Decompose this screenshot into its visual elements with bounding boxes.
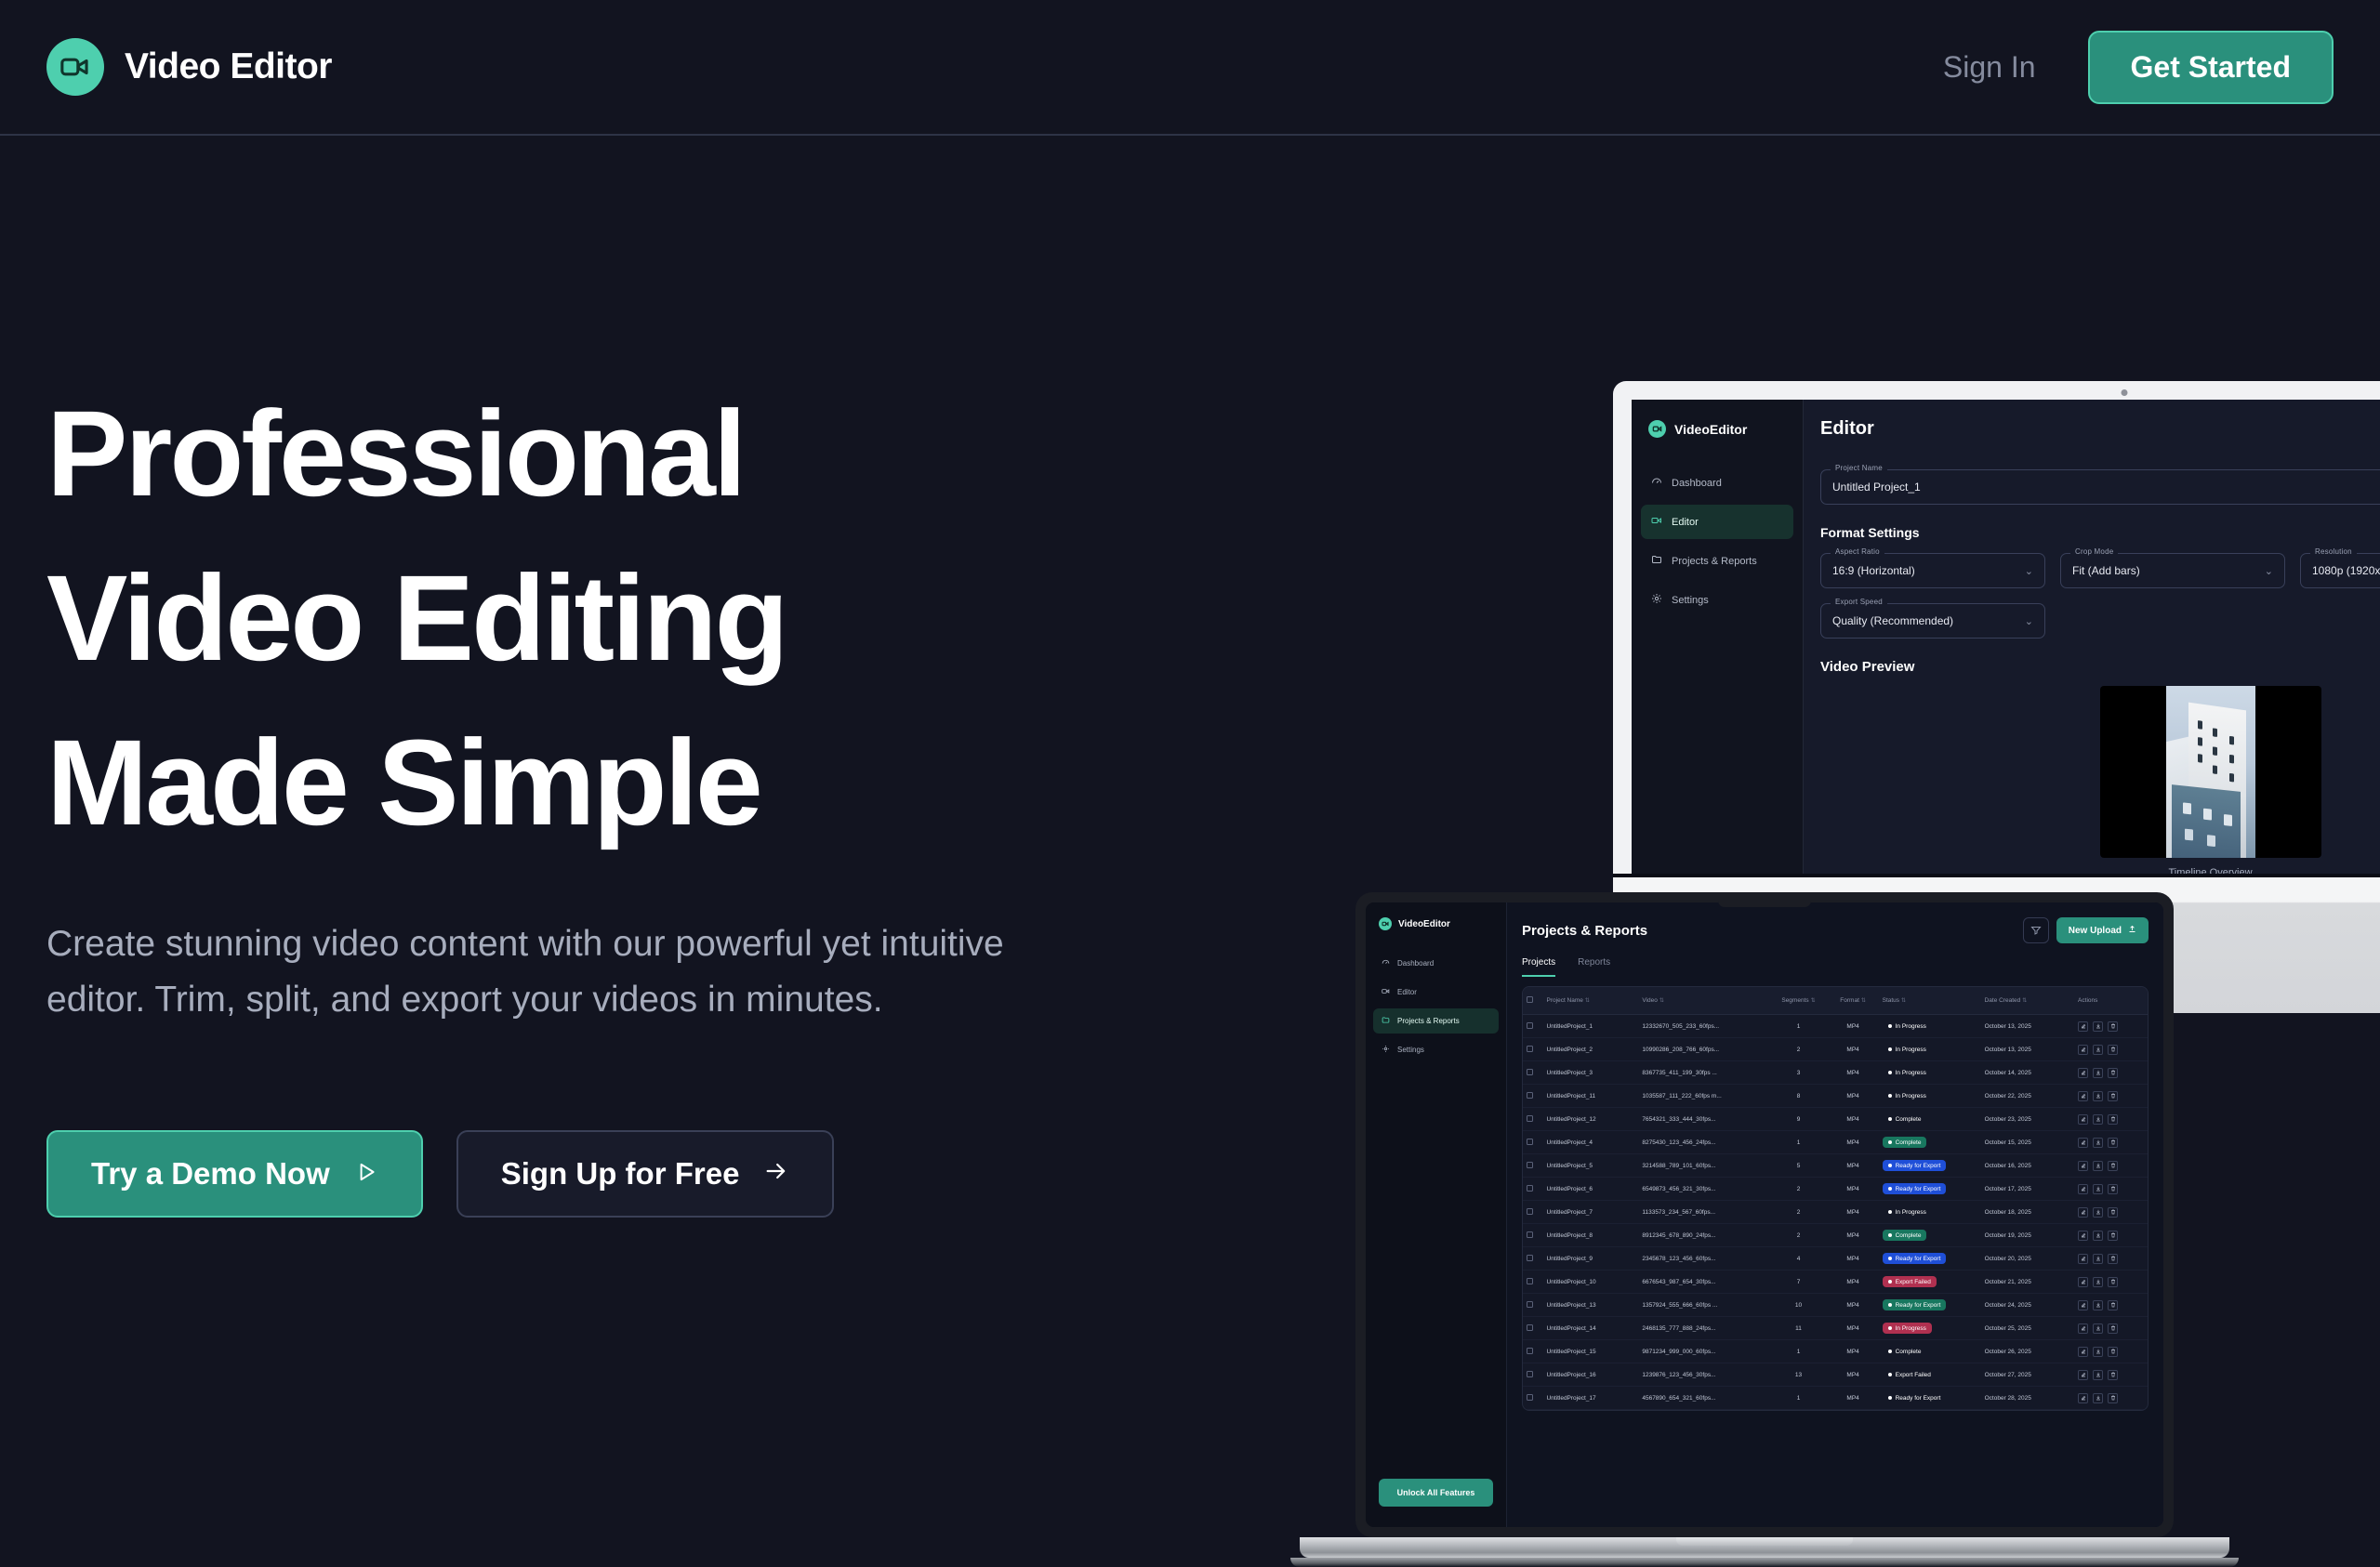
editor-page-title: Editor [1820, 418, 1874, 440]
edit-icon[interactable] [2078, 1161, 2088, 1171]
cell-video: 6676543_987_654_30fps... [1638, 1271, 1769, 1294]
checkbox-icon[interactable] [1527, 1185, 1533, 1192]
checkbox-icon[interactable] [1527, 1394, 1533, 1401]
cell-segments: 2 [1769, 1224, 1827, 1247]
trash-icon[interactable] [2108, 1254, 2118, 1264]
site-header: Video Editor Sign In Get Started [0, 0, 2380, 136]
row-checkbox[interactable] [1523, 1038, 1543, 1061]
row-checkbox[interactable] [1523, 1317, 1543, 1340]
table-row[interactable]: UntitledProject_53214588_789_101_60fps..… [1523, 1154, 2148, 1178]
video-player-preview[interactable] [2100, 686, 2321, 858]
get-started-button[interactable]: Get Started [2088, 31, 2334, 104]
cell-date-created: October 28, 2025 [1981, 1387, 2074, 1410]
product-mockup: VideoEditor Dashboard Editor [1246, 353, 2380, 1190]
cell-date-created: October 26, 2025 [1981, 1340, 2074, 1363]
hero-cta-row: Try a Demo Now Sign Up for Free [46, 1130, 1116, 1218]
cell-status: In Progress [1879, 1038, 1981, 1061]
cell-actions [2074, 1224, 2148, 1247]
camera-notch [1718, 892, 1811, 907]
trash-icon[interactable] [2108, 1045, 2118, 1055]
trash-icon[interactable] [2108, 1091, 2118, 1101]
cell-format: MP4 [1828, 1317, 1879, 1340]
cell-segments: 2 [1769, 1038, 1827, 1061]
cell-format: MP4 [1828, 1108, 1879, 1131]
row-checkbox[interactable] [1523, 1131, 1543, 1154]
video-preview-title: Video Preview [1820, 659, 1914, 675]
format-settings-title: Format Settings [1820, 525, 2380, 540]
heading-line-3: Made Simple [46, 701, 1116, 865]
cell-project-name: UntitledProject_13 [1543, 1294, 1639, 1317]
table-row[interactable]: UntitledProject_174567890_654_321_60fps.… [1523, 1387, 2148, 1410]
editor-brand-name: VideoEditor [1674, 422, 1747, 437]
projects-table-wrapper: Project Name⇅ Video⇅ Segments⇅ Format⇅ S… [1522, 986, 2149, 1411]
resolution-value: 1080p (1920x1080) [2312, 564, 2380, 577]
download-icon[interactable] [2093, 1138, 2103, 1148]
row-checkbox[interactable] [1523, 1178, 1543, 1201]
edit-icon[interactable] [2078, 1254, 2088, 1264]
table-row[interactable]: UntitledProject_66549873_456_321_30fps..… [1523, 1178, 2148, 1201]
project-name-value: Untitled Project_1 [1832, 481, 1921, 494]
cell-actions [2074, 1340, 2148, 1363]
cell-segments: 1 [1769, 1387, 1827, 1410]
hero-subtext: Create stunning video content with our p… [46, 916, 1041, 1029]
cell-status: Ready for Export [1879, 1154, 1981, 1178]
cell-project-name: UntitledProject_6 [1543, 1178, 1639, 1201]
status-badge: Complete [1883, 1346, 1927, 1357]
cell-video: 10990286_208_766_60fps... [1638, 1038, 1769, 1061]
col-select-all[interactable] [1523, 987, 1543, 1015]
cell-actions [2074, 1201, 2148, 1224]
video-camera-icon [1648, 420, 1666, 438]
cell-project-name: UntitledProject_2 [1543, 1038, 1639, 1061]
checkbox-icon[interactable] [1527, 1324, 1533, 1331]
cell-status: In Progress [1879, 1015, 1981, 1038]
row-checkbox[interactable] [1523, 1085, 1543, 1108]
export-speed-select[interactable]: Export Speed Quality (Recommended) ⌄ [1820, 603, 2045, 639]
col-segments[interactable]: Segments⇅ [1769, 987, 1827, 1015]
col-date-created[interactable]: Date Created⇅ [1981, 987, 2074, 1015]
cell-project-name: UntitledProject_15 [1543, 1340, 1639, 1363]
cell-format: MP4 [1828, 1154, 1879, 1178]
cell-date-created: October 27, 2025 [1981, 1363, 2074, 1387]
col-status[interactable]: Status⇅ [1879, 987, 1981, 1015]
cell-video: 1133573_234_567_60fps... [1638, 1201, 1769, 1224]
row-checkbox[interactable] [1523, 1061, 1543, 1085]
heading-line-2: Video Editing [46, 536, 1116, 701]
edit-icon[interactable] [2078, 1045, 2088, 1055]
checkbox-icon[interactable] [1527, 1278, 1533, 1284]
cell-segments: 4 [1769, 1247, 1827, 1271]
col-actions: Actions [2074, 987, 2148, 1015]
folder-icon [1382, 1016, 1390, 1026]
cell-segments: 2 [1769, 1201, 1827, 1224]
cell-actions [2074, 1108, 2148, 1131]
sidebar-item-projects-reports[interactable]: Projects & Reports [1641, 544, 1793, 578]
cell-format: MP4 [1828, 1178, 1879, 1201]
header-actions: Sign In Get Started [1943, 31, 2334, 104]
trash-icon[interactable] [2108, 1207, 2118, 1218]
checkbox-icon[interactable] [1527, 1348, 1533, 1354]
download-icon[interactable] [2093, 1277, 2103, 1287]
download-icon[interactable] [2093, 1068, 2103, 1078]
cell-format: MP4 [1828, 1294, 1879, 1317]
cell-video: 3214588_789_101_60fps... [1638, 1154, 1769, 1178]
status-badge: Complete [1883, 1137, 1927, 1148]
arrow-right-icon [763, 1156, 789, 1192]
checkbox-icon[interactable] [1527, 1371, 1533, 1377]
checkbox-icon[interactable] [1527, 1162, 1533, 1168]
cell-actions [2074, 1015, 2148, 1038]
chevron-down-icon: ⌄ [2025, 565, 2033, 577]
cell-date-created: October 13, 2025 [1981, 1038, 2074, 1061]
cell-project-name: UntitledProject_10 [1543, 1271, 1639, 1294]
monitor-screen: VideoEditor Dashboard Editor [1632, 400, 2380, 874]
status-badge: Ready for Export [1883, 1253, 1947, 1264]
edit-icon[interactable] [2078, 1021, 2088, 1032]
cell-format: MP4 [1828, 1247, 1879, 1271]
checkbox-icon[interactable] [1527, 996, 1533, 1003]
tab-reports[interactable]: Reports [1578, 957, 1610, 977]
checkbox-icon[interactable] [1527, 1139, 1533, 1145]
download-icon[interactable] [2093, 1393, 2103, 1403]
sidebar-item-dashboard[interactable]: Dashboard [1641, 466, 1793, 500]
table-body: UntitledProject_112332670_505_233_60fps.… [1523, 1015, 2148, 1410]
cell-format: MP4 [1828, 1340, 1879, 1363]
projects-main: Projects & Reports New Upload [1507, 902, 2163, 1527]
cell-date-created: October 23, 2025 [1981, 1108, 2074, 1131]
download-icon[interactable] [2093, 1045, 2103, 1055]
status-badge: In Progress [1883, 1206, 1932, 1218]
edit-icon[interactable] [2078, 1114, 2088, 1125]
cell-video: 2345678_123_456_60fps... [1638, 1247, 1769, 1271]
checkbox-icon[interactable] [1527, 1115, 1533, 1122]
export-speed-label: Export Speed [1831, 598, 1887, 606]
table-row[interactable]: UntitledProject_48275430_123_456_24fps..… [1523, 1131, 2148, 1154]
trash-icon[interactable] [2108, 1277, 2118, 1287]
cell-date-created: October 24, 2025 [1981, 1294, 2074, 1317]
aspect-ratio-select[interactable]: Aspect Ratio 16:9 (Horizontal) ⌄ [1820, 553, 2045, 588]
download-icon[interactable] [2093, 1231, 2103, 1241]
edit-icon[interactable] [2078, 1323, 2088, 1334]
trash-icon[interactable] [2108, 1323, 2118, 1334]
sidebar-label: Projects & Reports [1672, 556, 1757, 567]
cell-video: 12332670_505_233_60fps... [1638, 1015, 1769, 1038]
row-checkbox[interactable] [1523, 1108, 1543, 1131]
funnel-icon[interactable] [2023, 917, 2049, 943]
cell-format: MP4 [1828, 1038, 1879, 1061]
trash-icon[interactable] [2108, 1068, 2118, 1078]
camera-icon [2122, 389, 2128, 396]
download-icon[interactable] [2093, 1021, 2103, 1032]
trash-icon[interactable] [2108, 1370, 2118, 1380]
table-row[interactable]: UntitledProject_159871234_999_000_60fps.… [1523, 1340, 2148, 1363]
sidebar-item-settings[interactable]: Settings [1373, 1037, 1499, 1062]
cell-segments: 13 [1769, 1363, 1827, 1387]
row-checkbox[interactable] [1523, 1340, 1543, 1363]
cell-actions [2074, 1038, 2148, 1061]
cell-actions [2074, 1317, 2148, 1340]
cell-status: In Progress [1879, 1061, 1981, 1085]
trash-icon[interactable] [2108, 1021, 2118, 1032]
download-icon[interactable] [2093, 1254, 2103, 1264]
table-row[interactable]: UntitledProject_161239876_123_456_30fps.… [1523, 1363, 2148, 1387]
download-icon[interactable] [2093, 1114, 2103, 1125]
cell-format: MP4 [1828, 1271, 1879, 1294]
table-row[interactable]: UntitledProject_71133573_234_567_60fps..… [1523, 1201, 2148, 1224]
sidebar-label: Settings [1397, 1046, 1424, 1054]
video-camera-icon [1379, 917, 1392, 930]
status-badge: In Progress [1883, 1067, 1932, 1078]
sidebar-item-editor[interactable]: Editor [1641, 505, 1793, 539]
status-badge: Complete [1883, 1230, 1927, 1241]
row-checkbox[interactable] [1523, 1154, 1543, 1178]
cell-actions [2074, 1271, 2148, 1294]
sidebar-label: Dashboard [1672, 478, 1722, 489]
download-icon[interactable] [2093, 1184, 2103, 1194]
cell-date-created: October 20, 2025 [1981, 1247, 2074, 1271]
status-badge: In Progress [1883, 1323, 1932, 1334]
aspect-ratio-value: 16:9 (Horizontal) [1832, 564, 1915, 577]
resolution-select[interactable]: Resolution 1080p (1920x1080) ⌄ [2300, 553, 2380, 588]
format-settings-grid: Aspect Ratio 16:9 (Horizontal) ⌄ Crop Mo… [1820, 553, 2380, 639]
table-row[interactable]: UntitledProject_38367735_411_199_30fps .… [1523, 1061, 2148, 1085]
try-demo-label: Try a Demo Now [91, 1156, 330, 1192]
table-row[interactable]: UntitledProject_210990286_208_766_60fps.… [1523, 1038, 2148, 1061]
gear-icon [1382, 1045, 1390, 1055]
status-badge: In Progress [1883, 1090, 1932, 1101]
video-camera-icon [1382, 987, 1390, 997]
row-checkbox[interactable] [1523, 1271, 1543, 1294]
table-row[interactable]: UntitledProject_142468135_777_888_24fps.… [1523, 1317, 2148, 1340]
editor-sidebar: VideoEditor Dashboard Editor [1632, 400, 1804, 874]
cell-status: Complete [1879, 1108, 1981, 1131]
row-checkbox[interactable] [1523, 1224, 1543, 1247]
resolution-label: Resolution [2310, 547, 2357, 556]
crop-mode-value: Fit (Add bars) [2072, 564, 2140, 577]
row-checkbox[interactable] [1523, 1387, 1543, 1410]
table-row[interactable]: UntitledProject_111035587_111_222_60fps … [1523, 1085, 2148, 1108]
trash-icon[interactable] [2108, 1161, 2118, 1171]
cell-actions [2074, 1178, 2148, 1201]
cell-format: MP4 [1828, 1224, 1879, 1247]
download-icon[interactable] [2093, 1300, 2103, 1310]
gauge-icon [1382, 958, 1390, 968]
edit-icon[interactable] [2078, 1370, 2088, 1380]
laptop-lid: VideoEditor Dashboard Editor [1355, 892, 2174, 1537]
laptop-base [1300, 1537, 2229, 1558]
cell-date-created: October 18, 2025 [1981, 1201, 2074, 1224]
edit-icon[interactable] [2078, 1277, 2088, 1287]
trash-icon[interactable] [2108, 1300, 2118, 1310]
building-foreground [2172, 784, 2241, 858]
sidebar-item-projects-reports[interactable]: Projects & Reports [1373, 1008, 1499, 1034]
trash-icon[interactable] [2108, 1231, 2118, 1241]
cell-project-name: UntitledProject_8 [1543, 1224, 1639, 1247]
cell-format: MP4 [1828, 1061, 1879, 1085]
edit-icon[interactable] [2078, 1393, 2088, 1403]
monitor-bezel: VideoEditor Dashboard Editor [1613, 381, 2380, 874]
checkbox-icon[interactable] [1527, 1255, 1533, 1261]
row-checkbox[interactable] [1523, 1247, 1543, 1271]
editor-main: Editor Save Export [1804, 400, 2380, 874]
sign-in-link[interactable]: Sign In [1943, 50, 2036, 85]
project-name-field[interactable]: Project Name Untitled Project_1 [1820, 469, 2380, 505]
row-checkbox[interactable] [1523, 1363, 1543, 1387]
upload-icon [2128, 925, 2136, 936]
cell-status: Complete [1879, 1131, 1981, 1154]
cell-status: Export Failed [1879, 1271, 1981, 1294]
folder-icon [1651, 554, 1662, 568]
edit-icon[interactable] [2078, 1347, 2088, 1357]
row-checkbox[interactable] [1523, 1201, 1543, 1224]
cell-project-name: UntitledProject_3 [1543, 1061, 1639, 1085]
cell-actions [2074, 1247, 2148, 1271]
col-project-name[interactable]: Project Name⇅ [1543, 987, 1639, 1015]
video-camera-icon [46, 38, 104, 96]
trash-icon[interactable] [2108, 1114, 2118, 1125]
row-checkbox[interactable] [1523, 1015, 1543, 1038]
cell-segments: 11 [1769, 1317, 1827, 1340]
cell-format: MP4 [1828, 1201, 1879, 1224]
checkbox-icon[interactable] [1527, 1231, 1533, 1238]
editor-sidebar-brand: VideoEditor [1632, 420, 1803, 466]
cell-status: Complete [1879, 1340, 1981, 1363]
sidebar-item-settings[interactable]: Settings [1641, 583, 1793, 617]
cell-segments: 1 [1769, 1131, 1827, 1154]
cell-format: MP4 [1828, 1363, 1879, 1387]
cell-segments: 2 [1769, 1178, 1827, 1201]
download-icon[interactable] [2093, 1370, 2103, 1380]
cell-status: Export Failed [1879, 1363, 1981, 1387]
crop-mode-select[interactable]: Crop Mode Fit (Add bars) ⌄ [2060, 553, 2285, 588]
download-icon[interactable] [2093, 1161, 2103, 1171]
cell-segments: 3 [1769, 1061, 1827, 1085]
tab-projects[interactable]: Projects [1522, 957, 1555, 977]
cell-project-name: UntitledProject_17 [1543, 1387, 1639, 1410]
download-icon[interactable] [2093, 1091, 2103, 1101]
cell-status: Ready for Export [1879, 1294, 1981, 1317]
cell-format: MP4 [1828, 1015, 1879, 1038]
gauge-icon [1651, 476, 1662, 490]
trash-icon[interactable] [2108, 1393, 2118, 1403]
laptop-mockup: VideoEditor Dashboard Editor [1246, 892, 2175, 1567]
edit-icon[interactable] [2078, 1231, 2088, 1241]
cell-video: 1357924_555_666_60fps ... [1638, 1294, 1769, 1317]
play-triangle-icon [354, 1156, 378, 1192]
status-badge: Export Failed [1883, 1276, 1937, 1287]
trash-icon[interactable] [2108, 1138, 2118, 1148]
checkbox-icon[interactable] [1527, 1022, 1533, 1029]
col-video[interactable]: Video⇅ [1638, 987, 1769, 1015]
edit-icon[interactable] [2078, 1207, 2088, 1218]
editor-nav: Dashboard Editor Projects & Reports [1632, 466, 1803, 617]
unlock-all-features-button[interactable]: Unlock All Features [1379, 1479, 1493, 1507]
status-badge: Ready for Export [1883, 1299, 1947, 1310]
status-badge: Complete [1883, 1113, 1927, 1125]
edit-icon[interactable] [2078, 1091, 2088, 1101]
status-badge: Ready for Export [1883, 1392, 1947, 1403]
projects-header: Projects & Reports New Upload [1522, 917, 2149, 943]
table-row[interactable]: UntitledProject_92345678_123_456_60fps..… [1523, 1247, 2148, 1271]
page-title: Professional Video Editing Made Simple [46, 372, 1116, 865]
cell-segments: 8 [1769, 1085, 1827, 1108]
laptop-shadow [1290, 1558, 2239, 1567]
col-format[interactable]: Format⇅ [1828, 987, 1879, 1015]
edit-icon[interactable] [2078, 1068, 2088, 1078]
download-icon[interactable] [2093, 1323, 2103, 1334]
projects-header-actions: New Upload [2023, 917, 2149, 943]
edit-icon[interactable] [2078, 1300, 2088, 1310]
cell-segments: 10 [1769, 1294, 1827, 1317]
status-badge: Ready for Export [1883, 1160, 1947, 1171]
checkbox-icon[interactable] [1527, 1301, 1533, 1308]
cell-date-created: October 13, 2025 [1981, 1015, 2074, 1038]
cell-segments: 7 [1769, 1271, 1827, 1294]
new-upload-button[interactable]: New Upload [2056, 917, 2149, 943]
cell-actions [2074, 1061, 2148, 1085]
project-name-label: Project Name [1831, 464, 1887, 472]
trash-icon[interactable] [2108, 1184, 2118, 1194]
table-row[interactable]: UntitledProject_106676543_987_654_30fps.… [1523, 1271, 2148, 1294]
table-row[interactable]: UntitledProject_131357924_555_666_60fps … [1523, 1294, 2148, 1317]
video-camera-icon [1651, 515, 1662, 529]
sidebar-item-dashboard[interactable]: Dashboard [1373, 951, 1499, 976]
checkbox-icon[interactable] [1527, 1208, 1533, 1215]
cell-status: In Progress [1879, 1317, 1981, 1340]
brand-logo-group[interactable]: Video Editor [46, 38, 332, 96]
cell-status: Complete [1879, 1224, 1981, 1247]
video-preview-header: Video Preview Video player size [1820, 659, 2380, 675]
table-row[interactable]: UntitledProject_127654321_333_444_30fps.… [1523, 1108, 2148, 1131]
crop-mode-label: Crop Mode [2070, 547, 2118, 556]
cell-video: 7654321_333_444_30fps... [1638, 1108, 1769, 1131]
projects-table: Project Name⇅ Video⇅ Segments⇅ Format⇅ S… [1523, 987, 2148, 1410]
sidebar-item-editor[interactable]: Editor [1373, 980, 1499, 1005]
checkbox-icon[interactable] [1527, 1069, 1533, 1075]
cell-video: 1035587_111_222_60fps m... [1638, 1085, 1769, 1108]
cell-date-created: October 19, 2025 [1981, 1224, 2074, 1247]
aspect-ratio-label: Aspect Ratio [1831, 547, 1884, 556]
download-icon[interactable] [2093, 1347, 2103, 1357]
status-badge: Ready for Export [1883, 1183, 1947, 1194]
trash-icon[interactable] [2108, 1347, 2118, 1357]
table-row[interactable]: UntitledProject_88912345_678_890_24fps..… [1523, 1224, 2148, 1247]
gear-icon [1651, 593, 1662, 607]
cell-date-created: October 22, 2025 [1981, 1085, 2074, 1108]
row-checkbox[interactable] [1523, 1294, 1543, 1317]
checkbox-icon[interactable] [1527, 1092, 1533, 1099]
timeline-overview-label: Timeline Overview [1820, 867, 2380, 874]
download-icon[interactable] [2093, 1207, 2103, 1218]
cell-actions [2074, 1294, 2148, 1317]
sign-up-free-button[interactable]: Sign Up for Free [456, 1130, 835, 1218]
edit-icon[interactable] [2078, 1138, 2088, 1148]
table-header-row: Project Name⇅ Video⇅ Segments⇅ Format⇅ S… [1523, 987, 2148, 1015]
cell-project-name: UntitledProject_9 [1543, 1247, 1639, 1271]
try-demo-button[interactable]: Try a Demo Now [46, 1130, 423, 1218]
cell-format: MP4 [1828, 1131, 1879, 1154]
table-row[interactable]: UntitledProject_112332670_505_233_60fps.… [1523, 1015, 2148, 1038]
edit-icon[interactable] [2078, 1184, 2088, 1194]
cell-project-name: UntitledProject_16 [1543, 1363, 1639, 1387]
cell-date-created: October 14, 2025 [1981, 1061, 2074, 1085]
cell-format: MP4 [1828, 1085, 1879, 1108]
projects-page-title: Projects & Reports [1522, 923, 1647, 939]
cell-actions [2074, 1363, 2148, 1387]
checkbox-icon[interactable] [1527, 1046, 1533, 1052]
projects-brand-name: VideoEditor [1398, 919, 1450, 929]
cell-video: 4567890_654_321_60fps... [1638, 1387, 1769, 1410]
